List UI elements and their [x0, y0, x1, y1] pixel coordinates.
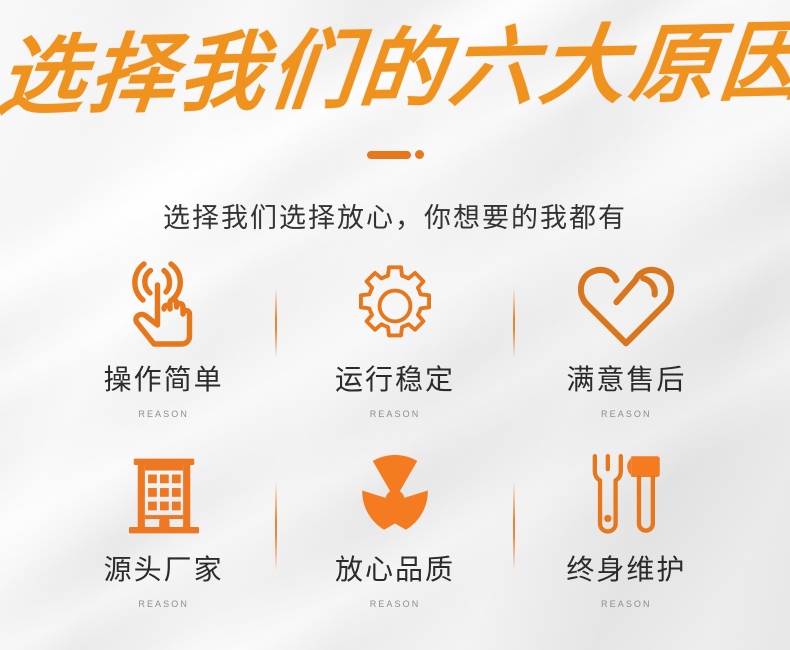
divider-bar: [367, 151, 411, 159]
reasons-grid: 操作简单 REASON 运行稳定 REASON: [48, 258, 742, 643]
reason-sublabel: REASON: [138, 599, 189, 609]
reason-label: 运行稳定: [335, 358, 455, 398]
reason-label: 终身维护: [566, 548, 686, 588]
reason-sublabel: REASON: [138, 409, 189, 419]
reason-card-6: 终身维护 REASON: [511, 448, 742, 643]
heart-icon: [578, 258, 674, 354]
radiation-icon: [349, 448, 441, 544]
reason-label: 放心品质: [335, 548, 455, 588]
reason-label: 源头厂家: [104, 548, 224, 588]
factory-building-icon: [124, 448, 204, 544]
page-subtitle: 选择我们选择放心，你想要的我都有: [0, 196, 790, 235]
reason-card-4: 源头厂家 REASON: [48, 448, 279, 643]
promo-banner: 选择我们的六大原因 选择我们选择放心，你想要的我都有: [0, 0, 790, 650]
column-divider: [513, 481, 515, 571]
reason-sublabel: REASON: [601, 409, 652, 419]
divider-dot: [415, 150, 424, 159]
reason-card-1: 操作简单 REASON: [48, 258, 279, 448]
column-divider: [275, 288, 277, 358]
tap-hand-icon: [121, 258, 207, 354]
column-divider: [513, 288, 515, 358]
reason-sublabel: REASON: [601, 599, 652, 609]
gear-icon: [351, 258, 439, 354]
reason-card-3: 满意售后 REASON: [511, 258, 742, 448]
title-divider: [0, 150, 790, 159]
reason-card-2: 运行稳定 REASON: [279, 258, 510, 448]
page-title: 选择我们的六大原因: [0, 26, 790, 114]
reason-sublabel: REASON: [370, 599, 421, 609]
reason-card-5: 放心品质 REASON: [279, 448, 510, 643]
wrench-hammer-icon: [581, 448, 671, 544]
reason-label: 操作简单: [104, 358, 224, 398]
column-divider: [275, 481, 277, 571]
page-title-text: 选择我们的六大原因: [0, 18, 790, 121]
reason-sublabel: REASON: [370, 409, 421, 419]
reason-label: 满意售后: [566, 358, 686, 398]
